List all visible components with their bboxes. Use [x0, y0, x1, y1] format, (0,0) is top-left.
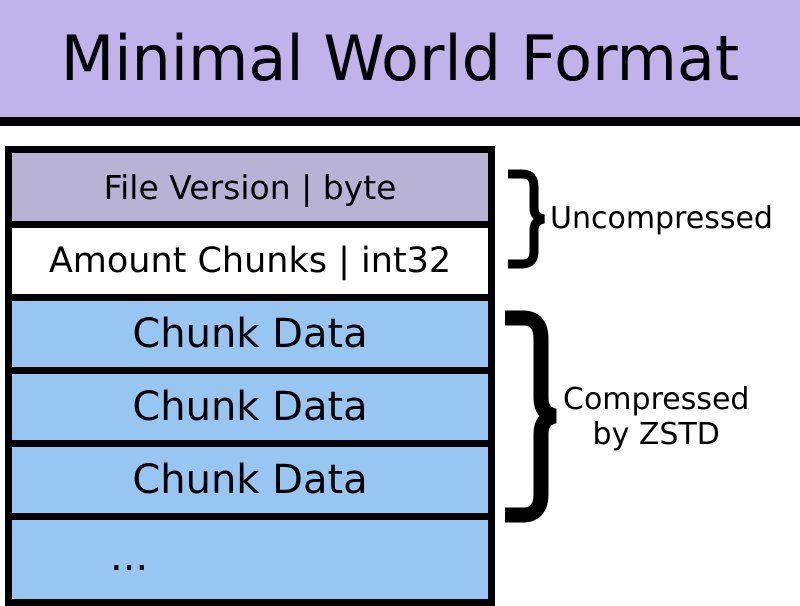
- row-label-chunk-data-3: Chunk Data: [132, 457, 367, 503]
- page-title: Minimal World Format: [61, 28, 739, 90]
- row-label-chunk-data-1: Chunk Data: [132, 311, 367, 357]
- right-curly-brace-icon: [505, 310, 559, 524]
- row-label-chunk-data-2: Chunk Data: [132, 384, 367, 430]
- world-format-table: File Version | byte Amount Chunks | int3…: [5, 146, 495, 606]
- annotation-label-compressed-line2: by ZSTD: [563, 417, 749, 452]
- title-divider: [0, 117, 800, 126]
- annotation-label-compressed-line1: Compressed: [563, 382, 749, 417]
- row-label-file-version: File Version | byte: [104, 168, 397, 207]
- row-label-amount-chunks: Amount Chunks | int32: [49, 241, 451, 281]
- right-curly-brace-icon: [508, 168, 548, 270]
- table-row: Chunk Data: [12, 294, 488, 367]
- annotation-label-compressed: Compressed by ZSTD: [563, 382, 749, 453]
- table-row: Amount Chunks | int32: [12, 221, 488, 294]
- title-banner: Minimal World Format: [0, 0, 800, 117]
- annotation-label-uncompressed: Uncompressed: [550, 201, 773, 236]
- annotation-uncompressed: Uncompressed: [508, 168, 773, 270]
- table-row: File Version | byte: [12, 153, 488, 221]
- table-row: Chunk Data: [12, 440, 488, 513]
- annotation-compressed: Compressed by ZSTD: [505, 310, 749, 524]
- table-row: Chunk Data: [12, 367, 488, 440]
- table-row: ...: [12, 513, 488, 599]
- row-label-ellipsis: ...: [110, 534, 148, 580]
